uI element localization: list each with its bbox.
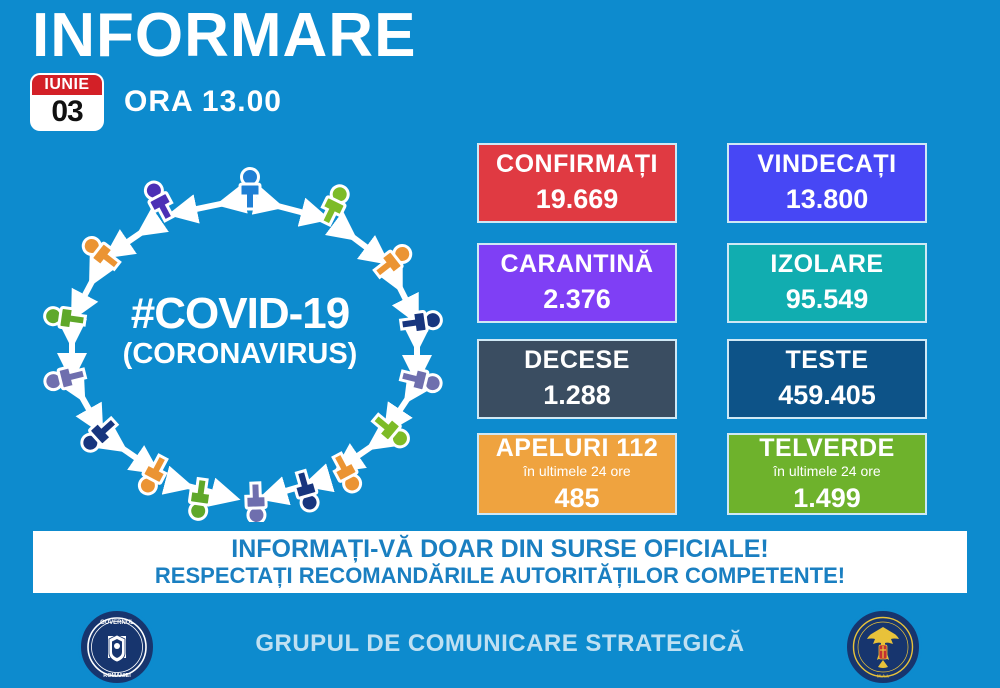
date-time-row: IUNIE 03 ORA 13.00 [32, 75, 282, 129]
banner-line-1: INFORMAȚI-VĂ DOAR DIN SURSE OFICIALE! [231, 536, 769, 564]
stat-label: CONFIRMAȚI [496, 151, 658, 179]
stat-label: CARANTINĂ [500, 251, 653, 279]
stat-label: APELURI 112 [496, 435, 659, 463]
stat-box-teste: TESTE 459.405 [727, 339, 927, 419]
stat-box-apeluri-112: APELURI 112 în ultimele 24 ore 485 [477, 433, 677, 515]
stat-value: 1.288 [543, 381, 611, 411]
stat-value: 13.800 [786, 185, 869, 215]
stat-value: 19.669 [536, 185, 619, 215]
footer: GUVERNUL ROMÂNIEI GRUPUL DE COMUNICARE S… [0, 600, 1000, 688]
page-title: INFORMARE [32, 2, 416, 70]
stat-value: 1.499 [793, 484, 861, 514]
stat-label: DECESE [524, 347, 630, 375]
svg-text:ROMÂNIEI: ROMÂNIEI [103, 672, 131, 679]
stat-value: 95.549 [786, 285, 869, 315]
stat-label: IZOLARE [770, 251, 883, 279]
stat-box-izolare: IZOLARE 95.549 [727, 243, 927, 323]
svg-text:GUVERNUL: GUVERNUL [100, 620, 134, 626]
stat-sublabel: în ultimele 24 ore [523, 463, 630, 480]
banner-line-2: RESPECTAȚI RECOMANDĂRILE AUTORITĂȚILOR C… [155, 563, 845, 588]
stat-value: 2.376 [543, 285, 611, 315]
official-sources-banner: INFORMAȚI-VĂ DOAR DIN SURSE OFICIALE! RE… [33, 531, 967, 593]
stat-label: TELVERDE [759, 435, 895, 463]
stat-value: 459.405 [778, 381, 876, 411]
stat-label: VINDECAȚI [757, 151, 896, 179]
stat-box-confirmati: CONFIRMAȚI 19.669 [477, 143, 677, 223]
people-circle-distancing-icon: #COVID-19 (CORONAVIRUS) [30, 162, 450, 522]
calendar-icon: IUNIE 03 [32, 75, 102, 129]
calendar-month-label: IUNIE [32, 75, 102, 95]
stat-value: 485 [554, 484, 599, 514]
stat-label: TESTE [785, 347, 868, 375]
covid-report-poster: INFORMARE IUNIE 03 ORA 13.00 [0, 0, 1000, 688]
stat-box-decese: DECESE 1.288 [477, 339, 677, 419]
svg-text:M.A.I.: M.A.I. [877, 674, 889, 679]
calendar-day-label: 03 [32, 95, 102, 129]
stat-box-vindecati: VINDECAȚI 13.800 [727, 143, 927, 223]
stat-sublabel: în ultimele 24 ore [773, 463, 880, 480]
guvernul-romaniei-seal-icon: GUVERNUL ROMÂNIEI [78, 608, 156, 686]
time-label: ORA 13.00 [124, 85, 282, 119]
dsu-mai-seal-icon: M.A.I. [844, 608, 922, 686]
stat-box-telverde: TELVERDE în ultimele 24 ore 1.499 [727, 433, 927, 515]
stat-box-carantina: CARANTINĂ 2.376 [477, 243, 677, 323]
footer-organization-label: GRUPUL DE COMUNICARE STRATEGICĂ [255, 630, 744, 658]
